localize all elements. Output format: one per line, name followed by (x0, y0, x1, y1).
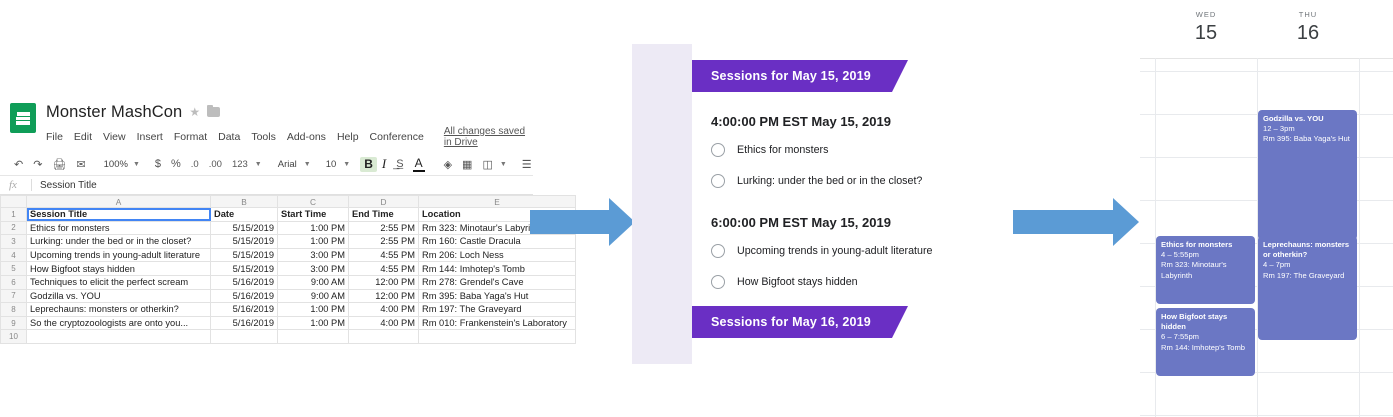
cell-session-title[interactable]: So the cryptozoologists are onto you... (27, 316, 211, 330)
font-family-select[interactable]: Arial (272, 154, 302, 174)
cell-location[interactable]: Rm 278: Grendel's Cave (419, 275, 576, 289)
star-icon[interactable]: ★ (189, 106, 200, 118)
cell-location[interactable]: Rm 206: Loch Ness (419, 248, 576, 262)
menu-item-view[interactable]: View (103, 131, 126, 143)
cell-date[interactable]: 5/16/2019 (211, 289, 278, 303)
flow-arrow-form-to-calendar (1013, 198, 1138, 246)
row-number[interactable]: 8 (1, 303, 27, 317)
cell-start-time[interactable]: 9:00 AM (278, 289, 349, 303)
day-number-label: 16 (1257, 22, 1359, 45)
fx-icon: fx (9, 179, 31, 191)
event-time: 12 – 3pm (1263, 124, 1352, 134)
cell-start-time[interactable] (278, 330, 349, 344)
cell-d1[interactable]: End Time (349, 208, 419, 222)
fill-color-icon[interactable]: ◈ (439, 154, 457, 174)
menu-item-data[interactable]: Data (218, 131, 240, 143)
cell-start-time[interactable]: 3:00 PM (278, 248, 349, 262)
form-option[interactable]: Ethics for monsters (711, 143, 920, 157)
section-time-label: 4:00:00 PM EST May 15, 2019 (711, 114, 920, 129)
table-row: 7Godzilla vs. YOU5/16/20199:00 AM12:00 P… (1, 289, 576, 303)
redo-icon[interactable]: ↷ (28, 154, 47, 174)
cell-session-title[interactable] (27, 330, 211, 344)
calendar-event[interactable]: Leprechauns: monsters or otherkin?4 – 7p… (1258, 236, 1357, 340)
calendar-event[interactable]: Ethics for monsters4 – 5:55pmRm 323: Min… (1156, 236, 1255, 304)
form-option[interactable]: How Bigfoot stays hidden (711, 275, 920, 289)
cell-date[interactable] (211, 330, 278, 344)
cell-session-title[interactable]: Godzilla vs. YOU (27, 289, 211, 303)
chevron-down-icon[interactable]: ▼ (343, 161, 350, 168)
cell-end-time[interactable]: 4:55 PM (349, 248, 419, 262)
google-form-panel: Sessions for May 15, 2019 4:00:00 PM EST… (632, 44, 920, 364)
calendar-event[interactable]: How Bigfoot stays hidden6 – 7:55pmRm 144… (1156, 308, 1255, 376)
print-icon[interactable]: 🖨 (47, 154, 71, 174)
column-header-d[interactable]: D (349, 196, 419, 208)
column-header-a[interactable]: A (27, 196, 211, 208)
chevron-down-icon[interactable]: ▼ (255, 161, 262, 168)
font-size-select[interactable]: 10 (321, 154, 342, 174)
cell-end-time[interactable] (349, 330, 419, 344)
table-row: 6Techniques to elicit the perfect scream… (1, 275, 576, 289)
spreadsheet-grid: A B C D E 1 Session Title Date Start Tim… (0, 195, 533, 344)
cell-location[interactable]: Rm 197: The Graveyard (419, 303, 576, 317)
cell-date[interactable]: 5/16/2019 (211, 303, 278, 317)
day-of-week-label: WED (1155, 10, 1257, 19)
table-row: 8Leprechauns: monsters or otherkin?5/16/… (1, 303, 576, 317)
column-header-row: A B C D E (1, 196, 576, 208)
column-header-b[interactable]: B (211, 196, 278, 208)
menu-item-tools[interactable]: Tools (251, 131, 276, 143)
event-location: Rm 323: Minotaur's Labyrinth (1161, 260, 1250, 280)
form-banner-may-16: Sessions for May 16, 2019 (692, 306, 892, 338)
cell-date[interactable]: 5/15/2019 (211, 221, 278, 235)
option-label: Ethics for monsters (737, 144, 828, 156)
day-of-week-label: THU (1257, 10, 1359, 19)
cell-session-title[interactable]: How Bigfoot stays hidden (27, 262, 211, 276)
radio-button-icon[interactable] (711, 143, 725, 157)
menu-item-conference[interactable]: Conference (370, 131, 424, 143)
google-sheets-icon (10, 103, 36, 133)
table-row: 3Lurking: under the bed or in the closet… (1, 235, 576, 249)
menu-item-edit[interactable]: Edit (74, 131, 92, 143)
row-number[interactable]: 4 (1, 248, 27, 262)
cell-start-time[interactable]: 1:00 PM (278, 316, 349, 330)
column-header-c[interactable]: C (278, 196, 349, 208)
cell-date[interactable]: 5/15/2019 (211, 248, 278, 262)
strikethrough-button[interactable]: ̲S̲ (391, 154, 408, 174)
menu-item-format[interactable]: Format (174, 131, 207, 143)
merge-cells-icon[interactable]: ◫ (477, 154, 497, 174)
row-number[interactable]: 3 (1, 235, 27, 249)
table-row: 4Upcoming trends in young-adult literatu… (1, 248, 576, 262)
menu-item-add-ons[interactable]: Add-ons (287, 131, 326, 143)
increase-decimal-button[interactable]: .00 (204, 154, 227, 174)
formula-input[interactable]: Session Title (40, 180, 97, 191)
cell-date[interactable]: 5/16/2019 (211, 316, 278, 330)
event-title: How Bigfoot stays hidden (1161, 312, 1250, 332)
sheets-header: Monster MashCon ★ File Edit View Insert … (0, 95, 533, 148)
cell-location[interactable] (419, 330, 576, 344)
cell-end-time[interactable]: 2:55 PM (349, 235, 419, 249)
cell-location[interactable]: Rm 395: Baba Yaga's Hut (419, 289, 576, 303)
cell-c1[interactable]: Start Time (278, 208, 349, 222)
option-label: How Bigfoot stays hidden (737, 276, 858, 288)
calendar-column-header-wed[interactable]: WED 15 (1155, 10, 1257, 45)
page-title[interactable]: Monster MashCon (46, 103, 182, 122)
decrease-decimal-button[interactable]: .0 (186, 154, 204, 174)
chevron-down-icon[interactable]: ▼ (133, 161, 140, 168)
event-time: 4 – 5:55pm (1161, 250, 1250, 260)
row-number[interactable]: 6 (1, 275, 27, 289)
cell-date[interactable]: 5/15/2019 (211, 235, 278, 249)
paint-format-icon[interactable]: ✉ (71, 154, 90, 174)
chevron-down-icon[interactable]: ▼ (304, 161, 311, 168)
form-option[interactable]: Upcoming trends in young-adult literatur… (711, 244, 920, 258)
select-all-corner[interactable] (1, 196, 27, 208)
cell-a1[interactable]: Session Title (27, 208, 211, 222)
section-time-label: 6:00:00 PM EST May 15, 2019 (711, 215, 920, 230)
form-banner-label: Sessions for May 16, 2019 (692, 315, 871, 329)
cell-session-title[interactable]: Ethics for monsters (27, 221, 211, 235)
borders-icon[interactable]: ▦ (457, 154, 477, 174)
cell-start-time[interactable]: 1:00 PM (278, 235, 349, 249)
folder-icon[interactable] (207, 107, 220, 117)
cell-end-time[interactable]: 2:55 PM (349, 221, 419, 235)
menu-item-insert[interactable]: Insert (137, 131, 163, 143)
google-sheets-panel: Monster MashCon ★ File Edit View Insert … (0, 95, 533, 320)
spreadsheet-body: 2Ethics for monsters5/15/20191:00 PM2:55… (1, 221, 576, 343)
cell-session-title[interactable]: Lurking: under the bed or in the closet? (27, 235, 211, 249)
cell-end-time[interactable]: 12:00 PM (349, 275, 419, 289)
cell-start-time[interactable]: 3:00 PM (278, 262, 349, 276)
row-number[interactable]: 7 (1, 289, 27, 303)
cell-location[interactable]: Rm 144: Imhotep's Tomb (419, 262, 576, 276)
event-time: 6 – 7:55pm (1161, 332, 1250, 342)
calendar-hour-line (1140, 71, 1393, 72)
row-number[interactable]: 10 (1, 330, 27, 344)
banner-slant-decoration (892, 306, 908, 338)
event-location: Rm 144: Imhotep's Tomb (1161, 343, 1250, 353)
bold-button[interactable]: B (360, 157, 377, 172)
calendar-column-line (1359, 58, 1360, 417)
menu-bar: File Edit View Insert Format Data Tools … (46, 126, 533, 148)
cell-start-time[interactable]: 1:00 PM (278, 303, 349, 317)
number-format-button[interactable]: 123 (227, 154, 253, 174)
chevron-down-icon[interactable]: ▼ (500, 161, 507, 168)
option-label: Upcoming trends in young-adult literatur… (737, 245, 932, 257)
cell-session-title[interactable]: Leprechauns: monsters or otherkin? (27, 303, 211, 317)
save-status[interactable]: All changes saved in Drive (444, 126, 533, 148)
form-section-2: 6:00:00 PM EST May 15, 2019 Upcoming tre… (692, 205, 920, 289)
radio-button-icon[interactable] (711, 244, 725, 258)
row-number[interactable]: 9 (1, 316, 27, 330)
formula-bar: fx Session Title (0, 176, 533, 195)
form-card: Sessions for May 15, 2019 4:00:00 PM EST… (692, 44, 920, 364)
cell-end-time[interactable]: 4:55 PM (349, 262, 419, 276)
cell-location[interactable]: Rm 010: Frankenstein's Laboratory (419, 316, 576, 330)
banner-slant-decoration (892, 60, 908, 92)
cell-end-time[interactable]: 4:00 PM (349, 303, 419, 317)
row-number[interactable]: 2 (1, 221, 27, 235)
event-title: Godzilla vs. YOU (1263, 114, 1352, 124)
text-color-button[interactable]: A (413, 157, 425, 172)
table-row: 10 (1, 330, 576, 344)
zoom-level[interactable]: 100% (101, 154, 131, 174)
cell-date[interactable]: 5/15/2019 (211, 262, 278, 276)
percent-format-button[interactable]: % (166, 154, 186, 174)
calendar-column-header-thu[interactable]: THU 16 (1257, 10, 1359, 45)
cell-date[interactable]: 5/16/2019 (211, 275, 278, 289)
row-number[interactable]: 1 (1, 208, 27, 222)
google-calendar-panel: WED 15 THU 16 Godzilla vs. YOU12 – 3pmRm… (1140, 0, 1393, 417)
calendar-header: WED 15 THU 16 (1140, 0, 1393, 59)
formula-divider (31, 179, 32, 191)
cell-start-time[interactable]: 1:00 PM (278, 221, 349, 235)
calendar-event[interactable]: Godzilla vs. YOU12 – 3pmRm 395: Baba Yag… (1258, 110, 1357, 240)
undo-icon[interactable]: ↶ (9, 154, 28, 174)
option-label: Lurking: under the bed or in the closet? (737, 175, 922, 187)
radio-button-icon[interactable] (711, 275, 725, 289)
event-title: Leprechauns: monsters or otherkin? (1263, 240, 1352, 260)
form-option[interactable]: Lurking: under the bed or in the closet? (711, 174, 920, 188)
menu-item-help[interactable]: Help (337, 131, 359, 143)
day-number-label: 15 (1155, 22, 1257, 45)
form-banner-may-15: Sessions for May 15, 2019 (692, 60, 892, 92)
event-time: 4 – 7pm (1263, 260, 1352, 270)
calendar-grid[interactable]: Godzilla vs. YOU12 – 3pmRm 395: Baba Yag… (1140, 58, 1393, 417)
event-location: Rm 197: The Graveyard (1263, 271, 1352, 281)
table-row: 5How Bigfoot stays hidden5/15/20193:00 P… (1, 262, 576, 276)
menu-item-file[interactable]: File (46, 131, 63, 143)
document-title-row: Monster MashCon ★ (46, 101, 533, 123)
cell-b1[interactable]: Date (211, 208, 278, 222)
row-number[interactable]: 5 (1, 262, 27, 276)
cell-end-time[interactable]: 4:00 PM (349, 316, 419, 330)
flow-arrow-sheets-to-form (530, 198, 635, 246)
event-location: Rm 395: Baba Yaga's Hut (1263, 134, 1352, 144)
cell-start-time[interactable]: 9:00 AM (278, 275, 349, 289)
table-row: 1 Session Title Date Start Time End Time… (1, 208, 576, 222)
cell-session-title[interactable]: Techniques to elicit the perfect scream (27, 275, 211, 289)
event-title: Ethics for monsters (1161, 240, 1250, 250)
calendar-hour-line (1140, 415, 1393, 416)
table-row: 2Ethics for monsters5/15/20191:00 PM2:55… (1, 221, 576, 235)
cell-end-time[interactable]: 12:00 PM (349, 289, 419, 303)
currency-format-button[interactable]: $ (150, 154, 166, 174)
table-row: 9So the cryptozoologists are onto you...… (1, 316, 576, 330)
horizontal-align-icon[interactable]: ☰ (517, 154, 537, 174)
cell-session-title[interactable]: Upcoming trends in young-adult literatur… (27, 248, 211, 262)
form-banner-label: Sessions for May 15, 2019 (692, 69, 871, 83)
italic-button[interactable]: I (377, 154, 391, 174)
toolbar: ↶ ↷ 🖨 ✉ 100% ▼ $ % .0 .00 123 ▼ Arial ▼ … (0, 153, 533, 176)
form-section-1: 4:00:00 PM EST May 15, 2019 Ethics for m… (692, 92, 920, 188)
radio-button-icon[interactable] (711, 174, 725, 188)
